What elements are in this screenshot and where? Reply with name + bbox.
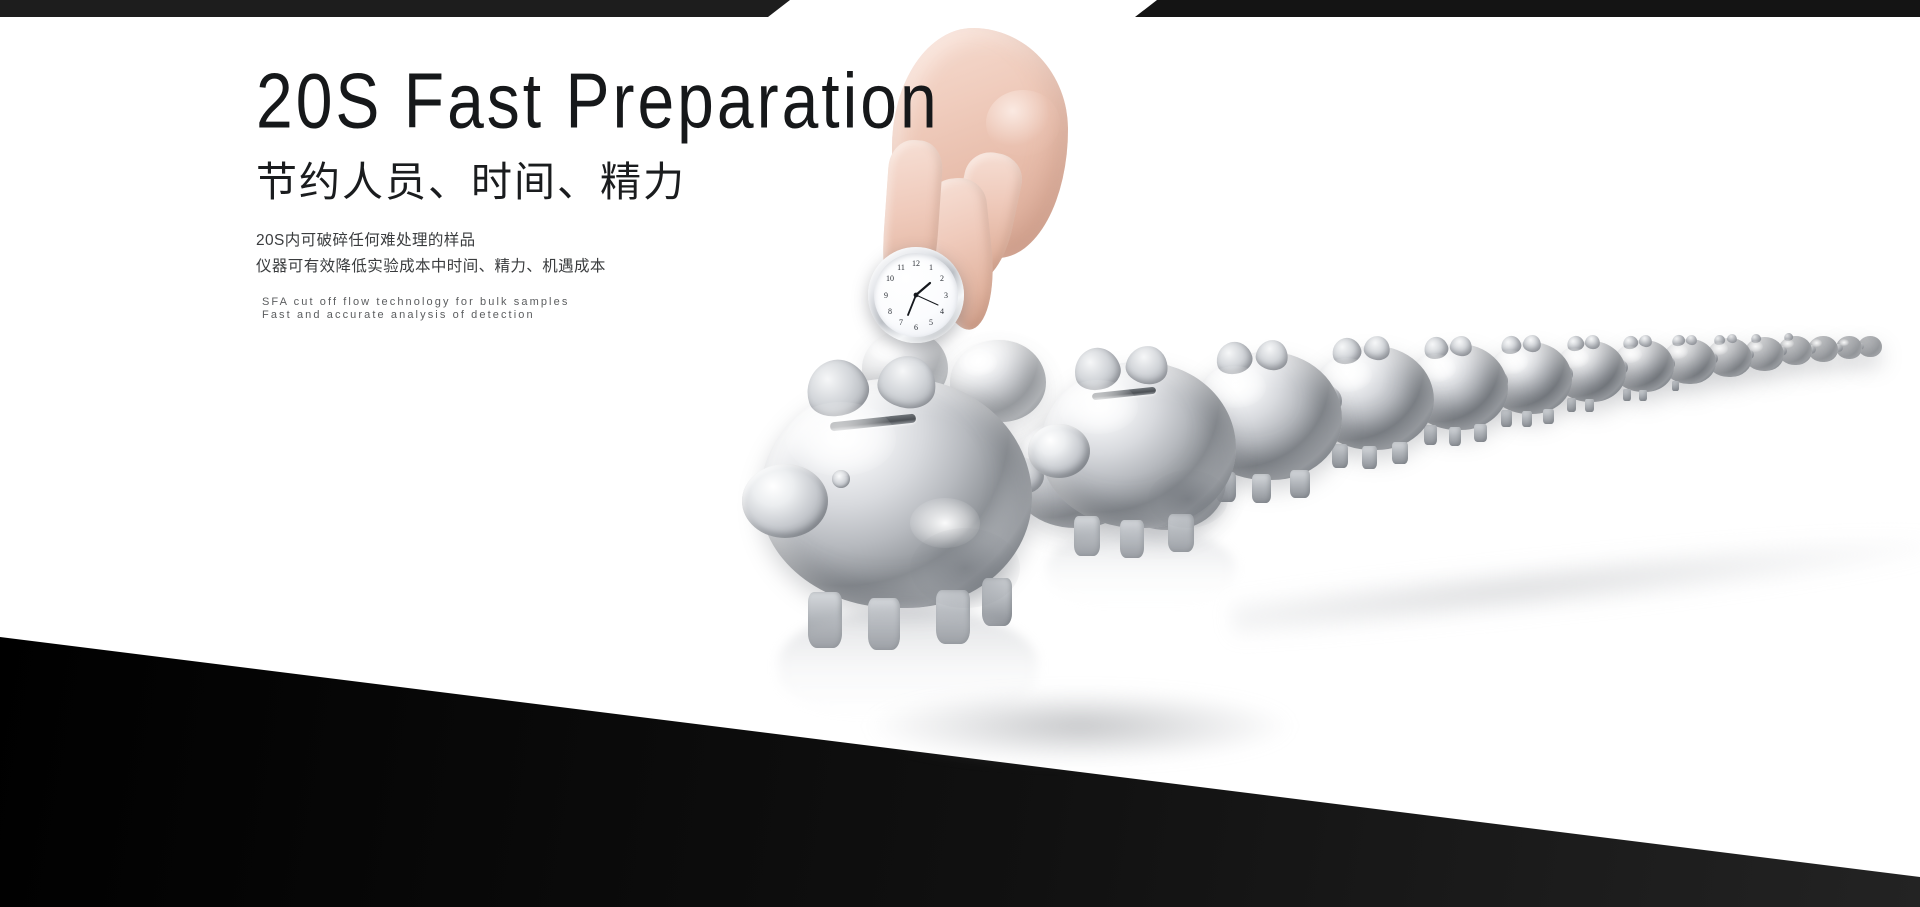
piggy-ear	[1254, 338, 1290, 372]
hand-middle-finger	[943, 147, 1027, 286]
piggy-body	[1706, 338, 1752, 377]
piggy-ear	[1421, 334, 1450, 362]
piggy-snout	[1658, 356, 1675, 371]
piggy-ear	[1362, 334, 1391, 361]
piggy-coin-slot	[1092, 387, 1156, 401]
piggy-highlight	[1839, 339, 1849, 346]
piggy-highlight	[1494, 350, 1528, 374]
main-piggy-reflection	[778, 608, 1038, 718]
piggy-leg	[1501, 410, 1512, 427]
piggy-row-shadow	[1230, 524, 1920, 643]
piggy-leg	[1449, 427, 1461, 446]
piggy-body	[1040, 362, 1236, 528]
piggy-leg	[1332, 444, 1348, 468]
piggy-ear	[1499, 334, 1523, 357]
piggy-body	[1778, 336, 1812, 365]
piggy-ear	[1726, 333, 1737, 343]
piggy-highlight	[1322, 358, 1372, 392]
piggy-snout	[1856, 343, 1864, 350]
chrome-piggy-bank-4	[1310, 346, 1434, 450]
piggy-ear	[875, 352, 940, 412]
piggy-leg	[1074, 516, 1100, 556]
piggy-leg	[1252, 474, 1271, 503]
subtitle: 节约人员、时间、精力	[256, 158, 940, 206]
piggy-ear	[1685, 334, 1697, 345]
piggy-snout	[1302, 384, 1342, 418]
description-line-2: 仪器可有效降低实验成本中时间、精力、机遇成本	[256, 254, 940, 280]
english-caption-line-1: SFA cut off flow technology for bulk sam…	[262, 296, 940, 309]
piggy-highlight	[910, 498, 980, 548]
piggy-highlight	[1118, 440, 1166, 473]
piggy-highlight	[1667, 344, 1688, 359]
chrome-piggy-bank-back-2	[1108, 430, 1226, 530]
chrome-piggy-bank-3	[1190, 352, 1342, 480]
chrome-piggy-bank-12	[1778, 336, 1812, 365]
chrome-piggy-bank-7	[1554, 341, 1626, 402]
chrome-piggy-bank-back-4	[862, 330, 948, 404]
piggy-snout	[1776, 346, 1787, 356]
piggy-shading	[1148, 470, 1228, 528]
piggy-highlight	[1204, 366, 1266, 408]
piggy-body	[1486, 342, 1572, 414]
piggy-body	[1108, 430, 1226, 530]
piggy-ear	[1584, 334, 1601, 350]
piggy-body	[760, 378, 1032, 608]
svg-text:4: 4	[940, 307, 944, 316]
chrome-piggy-bank-8	[1612, 340, 1674, 392]
second-piggy-reflection	[1046, 528, 1236, 606]
piggy-ear	[1638, 334, 1653, 348]
piggy-body	[1310, 346, 1434, 450]
piggy-highlight	[1022, 430, 1074, 466]
piggy-leg	[1120, 520, 1144, 558]
piggy-leg	[1623, 389, 1631, 401]
piggy-body	[1406, 344, 1508, 430]
promo-banner: 12 1 2 3 4 5 6 7 8 9 10 11	[0, 0, 1920, 907]
chrome-piggy-bank-5	[1406, 344, 1508, 430]
piggy-highlight	[786, 402, 896, 476]
description-block: 20S内可破碎任何难处理的样品 仪器可有效降低实验成本中时间、精力、机遇成本	[256, 228, 940, 280]
piggy-eye	[832, 470, 850, 488]
piggy-highlight	[1748, 341, 1763, 352]
piggy-ear	[1783, 332, 1794, 342]
piggy-body	[950, 340, 1046, 422]
piggy-snout	[1549, 364, 1573, 384]
main-piggy-shadow	[870, 690, 1290, 762]
piggy-ear	[1522, 334, 1542, 353]
chrome-piggy-bank-10	[1706, 338, 1752, 377]
page-title: 20S Fast Preparation	[256, 58, 940, 143]
piggy-snout	[1180, 400, 1228, 442]
piggy-highlight	[870, 338, 904, 362]
piggy-leg	[1424, 425, 1437, 445]
top-accent-bar-left	[0, 0, 790, 17]
piggy-leg	[1585, 399, 1594, 412]
piggy-highlight	[1058, 380, 1138, 434]
piggy-body	[1808, 336, 1838, 362]
piggy-leg	[808, 592, 842, 648]
piggy-ear	[1329, 335, 1364, 368]
piggy-snout	[1399, 376, 1432, 404]
bottom-diagonal-wedge	[0, 577, 1920, 907]
piggy-body	[1554, 341, 1626, 402]
piggy-leg	[936, 590, 970, 644]
piggy-body	[1190, 352, 1342, 480]
svg-text:2: 2	[940, 274, 944, 283]
svg-text:3: 3	[944, 291, 948, 300]
piggy-leg	[1567, 398, 1576, 412]
piggy-snout	[1002, 458, 1044, 494]
piggy-leg	[982, 578, 1012, 626]
piggy-snout	[1741, 349, 1754, 360]
piggy-leg	[1392, 442, 1408, 464]
piggy-body	[1858, 336, 1882, 357]
piggy-ear	[1750, 333, 1762, 344]
piggy-leg	[1522, 411, 1532, 427]
piggy-body	[1612, 340, 1674, 392]
piggy-ear	[1124, 343, 1171, 386]
piggy-snout	[742, 464, 828, 538]
piggy-ear	[1621, 334, 1639, 351]
piggy-highlight	[1561, 348, 1589, 368]
piggy-ear	[1069, 342, 1125, 395]
piggy-leg	[1639, 390, 1647, 401]
piggy-highlight	[1781, 339, 1794, 348]
chrome-piggy-bank-back-1	[1010, 418, 1140, 528]
piggy-body	[1010, 418, 1140, 528]
svg-text:6: 6	[914, 323, 918, 332]
piggy-snout	[1806, 345, 1816, 354]
description-line-1: 20S内可破碎任何难处理的样品	[256, 228, 940, 254]
piggy-body	[1662, 339, 1716, 384]
english-caption-block: SFA cut off flow technology for bulk sam…	[256, 296, 940, 322]
piggy-body	[862, 330, 948, 404]
piggy-ear	[1671, 333, 1687, 347]
piggy-leg	[1168, 514, 1194, 552]
banner-copy: 20S Fast Preparation 节约人员、时间、精力 20S内可破碎任…	[256, 58, 940, 322]
piggy-leg	[1474, 424, 1487, 442]
piggy-snout	[1703, 352, 1718, 365]
hand-knuckle-highlight	[986, 90, 1060, 156]
piggy-leg	[1672, 381, 1679, 391]
piggy-ear	[1713, 334, 1726, 347]
chrome-piggy-bank-9	[1662, 339, 1716, 384]
piggy-body	[1836, 336, 1862, 359]
piggy-shading	[910, 528, 1020, 608]
piggy-leg	[1362, 446, 1377, 469]
piggy-leg	[1290, 470, 1310, 498]
piggy-snout	[1028, 424, 1090, 478]
chrome-piggy-bank-11	[1744, 337, 1784, 371]
piggy-leg	[1543, 409, 1554, 424]
piggy-ear	[1449, 335, 1474, 358]
english-caption-line-2: Fast and accurate analysis of detection	[262, 309, 940, 322]
chrome-piggy-bank-13	[1808, 336, 1838, 362]
piggy-ear	[799, 352, 875, 424]
piggy-coin-slot	[830, 414, 916, 432]
chrome-piggy-bank-15	[1858, 336, 1882, 357]
piggy-highlight	[1618, 346, 1642, 363]
chrome-piggy-bank-6	[1486, 342, 1572, 414]
piggy-leg	[868, 598, 900, 650]
piggy-ear	[1565, 334, 1585, 353]
piggy-highlight	[1811, 339, 1822, 347]
piggy-snout	[1100, 466, 1138, 499]
piggy-snout	[1480, 369, 1508, 393]
piggy-leg	[1216, 472, 1236, 502]
piggy-snout	[1608, 359, 1628, 376]
chrome-piggy-bank-back-3	[950, 340, 1046, 422]
piggy-highlight	[1710, 342, 1728, 355]
piggy-snout	[1834, 344, 1843, 352]
piggy-highlight	[1416, 354, 1456, 382]
piggy-highlight	[959, 349, 997, 376]
piggy-body	[1744, 337, 1784, 371]
chrome-piggy-bank-front	[760, 378, 1032, 608]
chrome-piggy-bank-14	[1836, 336, 1862, 359]
top-accent-bar-right	[1135, 0, 1920, 17]
piggy-ear	[1212, 338, 1255, 379]
chrome-piggy-bank-2	[1040, 362, 1236, 528]
